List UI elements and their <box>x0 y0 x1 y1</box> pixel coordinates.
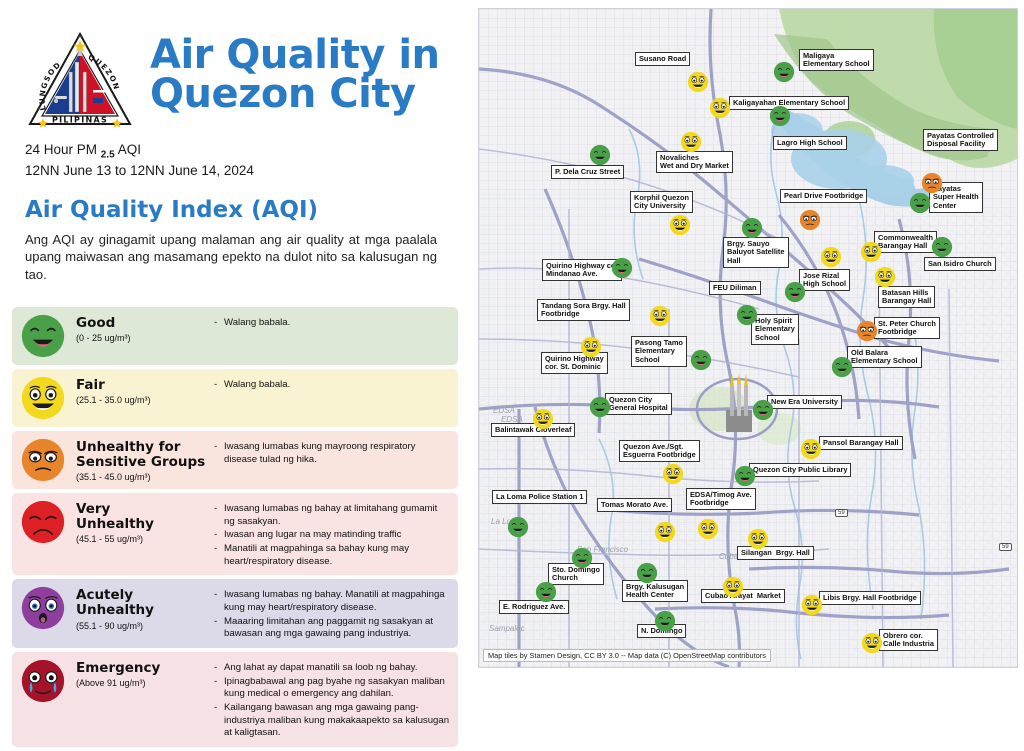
bullet-dash-icon: - <box>214 441 224 466</box>
map-station-label[interactable]: Holy Spirit Elementary School <box>751 314 799 345</box>
map-station-label[interactable]: New Era University <box>767 395 842 409</box>
map-station-marker[interactable] <box>799 209 821 231</box>
map-station-marker[interactable] <box>747 528 769 550</box>
air-quality-map[interactable]: Map tiles by Stamen Design, CC BY 3.0 --… <box>478 8 1018 668</box>
map-station-label[interactable]: Pearl Drive Footbridge <box>780 189 867 203</box>
map-station-label[interactable]: Commonwealth Barangay Hall <box>874 231 937 253</box>
aqi-category-name: Emergency <box>76 661 214 676</box>
map-station-marker[interactable] <box>532 408 554 430</box>
aqi-advice-list: -Iwasang lumabas ng bahay at limitahang … <box>214 499 450 569</box>
bullet-dash-icon: - <box>214 543 224 568</box>
map-station-marker[interactable] <box>741 217 763 239</box>
map-station-label[interactable]: Old Balara Elementary School <box>847 346 922 368</box>
aqi-advice-item: -Kailangang bawasan ang mga gawaing pang… <box>214 702 450 740</box>
aqi-advice-item: -Ang lahat ay dapat manatili sa loob ng … <box>214 662 450 675</box>
aqi-advice-item: -Maaaring limitahan ang paggamit ng sasa… <box>214 616 450 641</box>
aqi-advice-list: -Walang babala. <box>214 375 450 393</box>
map-station-label[interactable]: Maligaya Elementary School <box>799 49 874 71</box>
map-station-marker[interactable] <box>860 241 882 263</box>
pm-subscript: 2.5 <box>101 150 115 161</box>
aqi-category-range: (35.1 - 45.0 ug/m³) <box>76 472 214 482</box>
map-station-marker[interactable] <box>687 71 709 93</box>
title-line-2: Quezon City <box>150 75 470 114</box>
aqi-category: AcutelyUnhealthy(55.1 - 90 ug/m³) <box>76 585 214 630</box>
aqi-advice-item: -Walang babala. <box>214 317 450 330</box>
map-station-marker[interactable] <box>752 399 774 421</box>
aqi-category-range: (45.1 - 55 ug/m³) <box>76 534 214 544</box>
map-place-name: Sampaloc <box>489 624 525 633</box>
map-station-marker[interactable] <box>654 521 676 543</box>
aqi-advice-item: -Manatili at magpahinga sa bahay kung ma… <box>214 543 450 568</box>
aqi-legend-row: Good(0 - 25 ug/m³)-Walang babala. <box>12 307 458 365</box>
aqi-advice-item: -Walang babala. <box>214 379 450 392</box>
map-station-marker[interactable] <box>690 349 712 371</box>
map-station-label[interactable]: FEU Diliman <box>709 281 761 295</box>
aqi-category-range: (55.1 - 90 ug/m³) <box>76 621 214 631</box>
map-station-marker[interactable] <box>784 281 806 303</box>
aqi-category-range: (Above 91 ug/m³) <box>76 678 214 688</box>
aqi-advice-item: -Ipinagbabawal ang pag byahe ng sasakyan… <box>214 676 450 701</box>
aqi-legend-row: AcutelyUnhealthy(55.1 - 90 ug/m³)-Iwasan… <box>12 579 458 648</box>
map-station-label[interactable]: Batasan Hills Barangay Hall <box>878 286 935 308</box>
map-station-label[interactable]: Susano Road <box>635 52 690 66</box>
map-station-marker[interactable] <box>831 356 853 378</box>
map-station-label[interactable]: Quezon City Public Library <box>749 463 851 477</box>
map-station-marker[interactable] <box>649 305 671 327</box>
map-station-label[interactable]: Brgy. Sauyo Baluyot Satellite Hall <box>723 237 789 268</box>
map-station-label[interactable]: Novaliches Wet and Dry Market <box>656 151 733 173</box>
map-station-marker[interactable] <box>589 144 611 166</box>
map-station-label[interactable]: Tandang Sora Brgy. Hall Footbridge <box>537 299 630 321</box>
map-station-marker[interactable] <box>801 594 823 616</box>
aqi-advice-text: Walang babala. <box>224 317 290 330</box>
map-station-label[interactable]: Korphil Quezon City University <box>630 191 693 213</box>
aqi-category-name: Unhealthy forSensitive Groups <box>76 440 214 470</box>
map-station-label[interactable]: P. Dela Cruz Street <box>551 165 624 179</box>
map-station-label[interactable]: EDSA/Timog Ave. Footbridge <box>686 488 756 510</box>
map-station-marker[interactable] <box>636 562 658 584</box>
bullet-dash-icon: - <box>214 503 224 528</box>
aqi-advice-item: -Iwasang lumabas ng bahay at limitahang … <box>214 503 450 528</box>
map-station-marker[interactable] <box>722 576 744 598</box>
aqi-category-name: AcutelyUnhealthy <box>76 588 214 618</box>
aqi-advice-text: Manatili at magpahinga sa bahay kung may… <box>224 543 450 568</box>
aqi-face-icon-unhealthy-for-sensitive-groups <box>20 437 66 483</box>
map-station-marker[interactable] <box>654 610 676 632</box>
aqi-face-icon-fair <box>20 375 66 421</box>
bullet-dash-icon: - <box>214 317 224 330</box>
aqi-advice-text: Iwasang lumabas ng bahay at limitahang g… <box>224 503 450 528</box>
pm25-subtitle: 24 Hour PM 2.5 AQI <box>25 142 141 161</box>
map-station-marker[interactable] <box>909 192 931 214</box>
page-title: Air Quality in Quezon City <box>150 36 470 114</box>
bullet-dash-icon: - <box>214 529 224 542</box>
map-station-marker[interactable] <box>611 257 633 279</box>
title-line-1: Air Quality in <box>150 36 470 75</box>
bullet-dash-icon: - <box>214 589 224 614</box>
map-station-marker[interactable] <box>856 320 878 342</box>
aqi-advice-text: Walang babala. <box>224 379 290 392</box>
map-station-marker[interactable] <box>535 581 557 603</box>
map-station-label[interactable]: St. Peter Church Footbridge <box>874 317 940 339</box>
bullet-dash-icon: - <box>214 616 224 641</box>
aqi-advice-text: Iwasang lumabas ng bahay. Manatili at ma… <box>224 589 450 614</box>
map-station-marker[interactable] <box>709 97 731 119</box>
map-station-marker[interactable] <box>662 463 684 485</box>
quezon-memorial-monument-icon <box>724 374 754 434</box>
date-range: 12NN June 13 to 12NN June 14, 2024 <box>25 163 254 178</box>
map-attribution: Map tiles by Stamen Design, CC BY 3.0 --… <box>483 649 771 662</box>
aqi-advice-text: Iwasan ang lugar na may matinding traffi… <box>224 529 401 542</box>
aqi-legend-row: Fair(25.1 - 35.0 ug/m³)-Walang babala. <box>12 369 458 427</box>
aqi-advice-list: -Iwasang lumabas kung mayroong respirato… <box>214 437 450 467</box>
map-station-label[interactable]: La Loma Police Station 1 <box>492 490 587 504</box>
aqi-category: Good(0 - 25 ug/m³) <box>76 313 214 343</box>
aqi-advice-text: Iwasang lumabas kung mayroong respirator… <box>224 441 450 466</box>
map-station-marker[interactable] <box>507 516 529 538</box>
map-station-label[interactable]: San Isidro Church <box>924 257 996 271</box>
map-station-marker[interactable] <box>921 172 943 194</box>
pm-prefix: 24 Hour PM <box>25 142 101 157</box>
map-station-marker[interactable] <box>773 61 795 83</box>
aqi-legend-row: Emergency(Above 91 ug/m³)-Ang lahat ay d… <box>12 652 458 747</box>
map-station-marker[interactable] <box>800 438 822 460</box>
map-station-label[interactable]: Lagro High School <box>773 136 847 150</box>
aqi-category: Fair(25.1 - 35.0 ug/m³) <box>76 375 214 405</box>
aqi-legend-row: Unhealthy forSensitive Groups(35.1 - 45.… <box>12 431 458 489</box>
quezon-city-seal-logo: LUNGSOD QUEZON PILIPINAS <box>25 28 135 138</box>
map-station-marker[interactable] <box>571 547 593 569</box>
aqi-category-name: VeryUnhealthy <box>76 502 214 532</box>
road-shield-icon: 59 <box>835 509 848 517</box>
aqi-face-icon-acutely-unhealthy <box>20 585 66 631</box>
map-station-marker[interactable] <box>580 336 602 358</box>
map-station-label[interactable]: Pansol Barangay Hall <box>819 436 903 450</box>
aqi-face-icon-very-unhealthy <box>20 499 66 545</box>
aqi-category: VeryUnhealthy(45.1 - 55 ug/m³) <box>76 499 214 544</box>
map-station-label[interactable]: Pasong Tamo Elementary School <box>631 336 687 367</box>
map-station-label[interactable]: Libis Brgy. Hall Footbridge <box>819 591 921 605</box>
aqi-advice-item: -Iwasang lumabas kung mayroong respirato… <box>214 441 450 466</box>
aqi-advice-text: Ipinagbabawal ang pag byahe ng sasakyan … <box>224 676 450 701</box>
bullet-dash-icon: - <box>214 379 224 392</box>
aqi-category-name: Good <box>76 316 214 331</box>
aqi-legend: Good(0 - 25 ug/m³)-Walang babala.Fair(25… <box>12 307 458 751</box>
map-station-marker[interactable] <box>931 236 953 258</box>
aqi-advice-item: -Iwasang lumabas ng bahay. Manatili at m… <box>214 589 450 614</box>
aqi-advice-list: -Iwasang lumabas ng bahay. Manatili at m… <box>214 585 450 642</box>
map-station-label[interactable]: Quezon Ave./Sgt. Esguerra Footbridge <box>619 440 700 462</box>
aqi-advice-text: Maaaring limitahan ang paggamit ng sasak… <box>224 616 450 641</box>
road-shield-icon: 59 <box>999 543 1012 551</box>
map-station-marker[interactable] <box>769 105 791 127</box>
map-station-marker[interactable] <box>861 632 883 654</box>
map-station-marker[interactable] <box>697 518 719 540</box>
aqi-category-range: (25.1 - 35.0 ug/m³) <box>76 395 214 405</box>
map-station-marker[interactable] <box>680 131 702 153</box>
bullet-dash-icon: - <box>214 702 224 740</box>
aqi-heading: Air Quality Index (AQI) <box>25 197 318 223</box>
map-station-marker[interactable] <box>734 465 756 487</box>
map-station-marker[interactable] <box>669 214 691 236</box>
aqi-category: Unhealthy forSensitive Groups(35.1 - 45.… <box>76 437 214 482</box>
map-station-label[interactable]: Quezon City General Hospital <box>605 393 672 415</box>
map-station-label[interactable]: Jose Rizal High School <box>799 269 850 291</box>
map-station-label[interactable]: Payatas Controlled Disposal Facility <box>923 129 998 151</box>
aqi-category-range: (0 - 25 ug/m³) <box>76 333 214 343</box>
aqi-advice-item: -Iwasan ang lugar na may matinding traff… <box>214 529 450 542</box>
map-station-label[interactable]: Obrero cor. Calle Industria <box>879 629 938 651</box>
aqi-advice-list: -Ang lahat ay dapat manatili sa loob ng … <box>214 658 450 741</box>
info-panel: LUNGSOD QUEZON PILIPINAS Air Quality in … <box>0 0 470 675</box>
aqi-face-icon-good <box>20 313 66 359</box>
aqi-category-name: Fair <box>76 378 214 393</box>
aqi-advice-text: Kailangang bawasan ang mga gawaing pang-… <box>224 702 450 740</box>
map-place-name: EDSA <box>493 406 515 415</box>
aqi-description: Ang AQI ay ginagamit upang malaman ang a… <box>25 231 437 283</box>
aqi-face-icon-emergency <box>20 658 66 704</box>
bullet-dash-icon: - <box>214 662 224 675</box>
aqi-legend-row: VeryUnhealthy(45.1 - 55 ug/m³)-Iwasang l… <box>12 493 458 575</box>
aqi-advice-list: -Walang babala. <box>214 313 450 331</box>
bullet-dash-icon: - <box>214 676 224 701</box>
map-station-label[interactable]: Tomas Morato Ave. <box>597 498 672 512</box>
pm-suffix: AQI <box>115 142 141 157</box>
aqi-category: Emergency(Above 91 ug/m³) <box>76 658 214 688</box>
svg-text:PILIPINAS: PILIPINAS <box>52 116 108 125</box>
map-station-marker[interactable] <box>589 396 611 418</box>
map-station-marker[interactable] <box>736 304 758 326</box>
aqi-advice-text: Ang lahat ay dapat manatili sa loob ng b… <box>224 662 417 675</box>
map-station-marker[interactable] <box>874 266 896 288</box>
map-station-marker[interactable] <box>820 246 842 268</box>
